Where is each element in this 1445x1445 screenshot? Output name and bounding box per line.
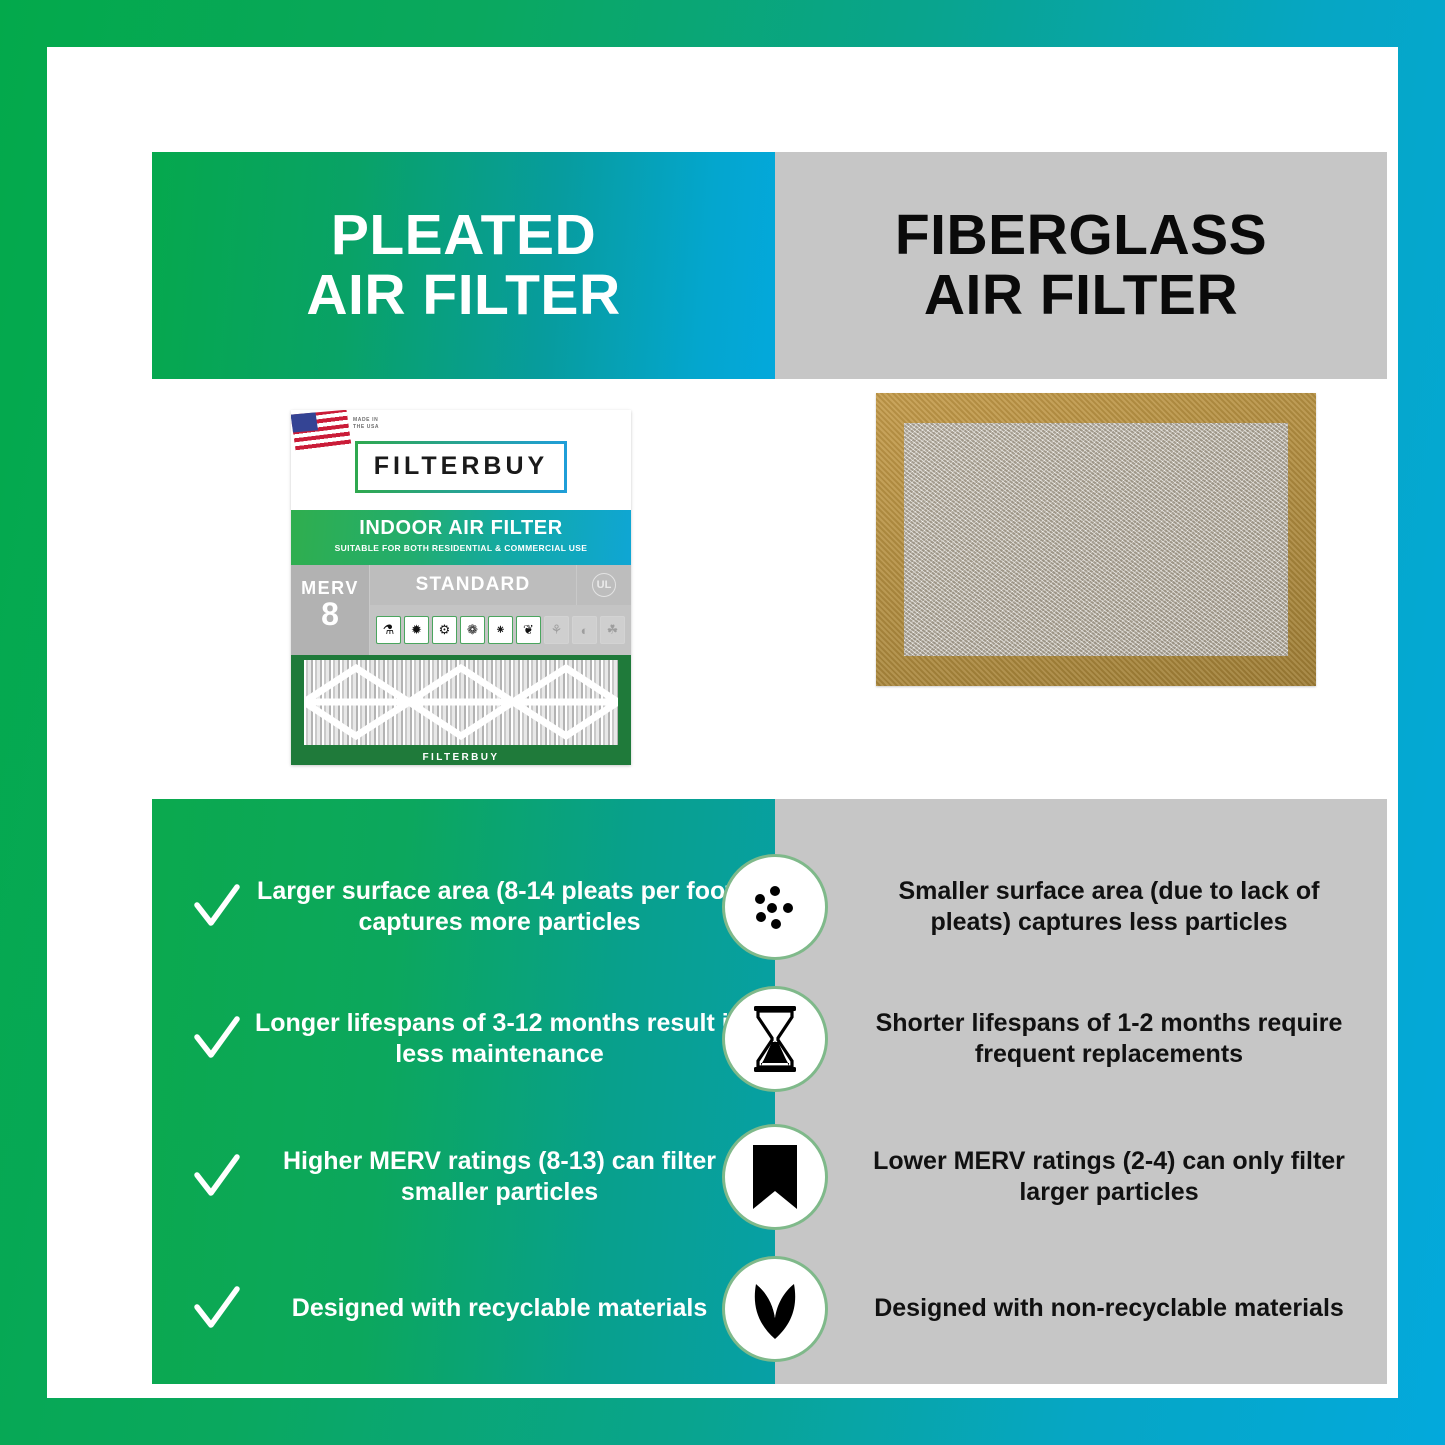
diamond-mesh-overlay: [304, 660, 618, 745]
fiberglass-filter-image: [876, 393, 1316, 686]
ul-seal-mark: UL: [592, 573, 616, 597]
spec-top: STANDARD UL: [370, 565, 631, 605]
checkmark-icon: [186, 1283, 248, 1335]
row-right-cell: Shorter lifespans of 1-2 months require …: [775, 1008, 1387, 1071]
made-in-usa-label: MADE IN THE USA: [353, 417, 379, 431]
header-row: PLEATED AIR FILTER FIBERGLASS AIR FILTER: [152, 152, 1387, 379]
capability-tile-7: ⚘: [544, 616, 569, 644]
row-right-text: Smaller surface area (due to lack of ple…: [861, 876, 1357, 939]
leaf-icon: [722, 1256, 828, 1362]
hourglass-icon: [722, 986, 828, 1092]
capability-tile-9: ☘: [600, 616, 625, 644]
row-right-cell: Designed with non-recyclable materials: [775, 1293, 1387, 1325]
row-right-text: Lower MERV ratings (2-4) can only filter…: [861, 1146, 1357, 1209]
row-right-cell: Smaller surface area (due to lack of ple…: [775, 876, 1387, 939]
row-left-cell: Higher MERV ratings (8-13) can filter sm…: [152, 1146, 775, 1209]
bookmark-icon: [722, 1124, 828, 1230]
box-footer-brand: FILTERBUY: [291, 752, 631, 763]
usa-flag-icon: [291, 410, 351, 450]
pleated-filter-box-image: MADE IN THE USA FILTERBUY INDOOR AIR FIL…: [291, 410, 631, 765]
capability-tile-1: ⚗: [376, 616, 401, 644]
header-fiberglass: FIBERGLASS AIR FILTER: [775, 152, 1387, 379]
infographic-page: PLEATED AIR FILTER FIBERGLASS AIR FILTER…: [0, 0, 1445, 1445]
capability-tile-5: ⁕: [488, 616, 513, 644]
capability-tile-2: ✹: [404, 616, 429, 644]
row-left-text: Designed with recyclable materials: [248, 1293, 751, 1325]
product-row: MADE IN THE USA FILTERBUY INDOOR AIR FIL…: [152, 379, 1387, 799]
header-fiberglass-title: FIBERGLASS AIR FILTER: [895, 206, 1267, 326]
capability-tile-4: ❁: [460, 616, 485, 644]
white-card: PLEATED AIR FILTER FIBERGLASS AIR FILTER…: [47, 47, 1398, 1398]
band-subtitle: SUITABLE FOR BOTH RESIDENTIAL & COMMERCI…: [291, 543, 631, 553]
comparison-rows: Larger surface area (8-14 pleats per foo…: [152, 799, 1387, 1384]
tier-label: STANDARD: [370, 565, 577, 605]
box-top-section: MADE IN THE USA FILTERBUY: [291, 410, 631, 510]
checkmark-icon: [186, 881, 248, 933]
checkmark-icon: [186, 1013, 248, 1065]
ul-seal: UL: [577, 565, 631, 605]
row-left-cell: Designed with recyclable materials: [152, 1283, 775, 1335]
filterbuy-logo: FILTERBUY: [355, 441, 567, 493]
row-left-cell: Longer lifespans of 3-12 months result i…: [152, 1008, 775, 1071]
particles-icon: [722, 854, 828, 960]
merv-block: MERV 8: [291, 565, 370, 655]
row-right-text: Designed with non-recyclable materials: [861, 1293, 1357, 1325]
fiberglass-media-texture: [904, 423, 1288, 656]
row-left-cell: Larger surface area (8-14 pleats per foo…: [152, 876, 775, 939]
capability-tiles: ⚗✹⚙❁⁕❦⚘◐☘: [370, 605, 631, 655]
row-left-text: Larger surface area (8-14 pleats per foo…: [248, 876, 751, 939]
comparison-panel: PLEATED AIR FILTER FIBERGLASS AIR FILTER…: [152, 152, 1387, 1384]
filterbuy-logo-text: FILTERBUY: [374, 452, 548, 481]
row-left-text: Longer lifespans of 3-12 months result i…: [248, 1008, 751, 1071]
capability-tile-3: ⚙: [432, 616, 457, 644]
band-title: INDOOR AIR FILTER: [291, 517, 631, 540]
header-pleated-title: PLEATED AIR FILTER: [306, 206, 620, 326]
row-right-cell: Lower MERV ratings (2-4) can only filter…: [775, 1146, 1387, 1209]
row-left-text: Higher MERV ratings (8-13) can filter sm…: [248, 1146, 751, 1209]
spec-band: MERV 8 STANDARD UL ⚗✹⚙❁⁕❦⚘◐☘: [291, 565, 631, 655]
spec-main: STANDARD UL ⚗✹⚙❁⁕❦⚘◐☘: [370, 565, 631, 655]
pleated-media-illustration: FILTERBUY: [291, 655, 631, 765]
merv-value: 8: [291, 599, 369, 629]
row-right-text: Shorter lifespans of 1-2 months require …: [861, 1008, 1357, 1071]
capability-tile-6: ❦: [516, 616, 541, 644]
indoor-air-filter-band: INDOOR AIR FILTER SUITABLE FOR BOTH RESI…: [291, 510, 631, 565]
header-pleated: PLEATED AIR FILTER: [152, 152, 775, 379]
capability-tile-8: ◐: [572, 616, 597, 644]
checkmark-icon: [186, 1151, 248, 1203]
